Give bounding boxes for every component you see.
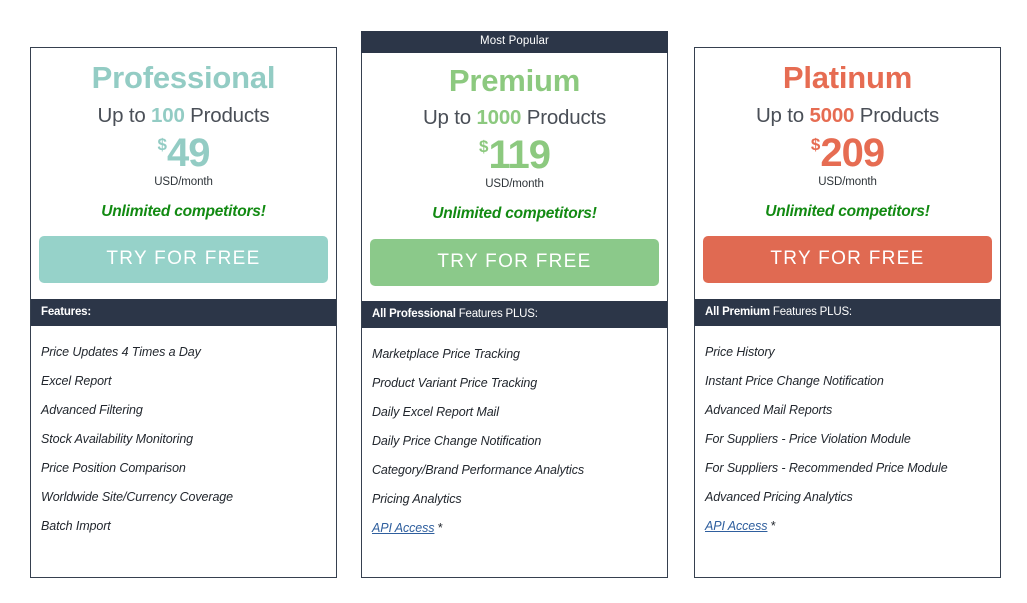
feature-item: Daily Excel Report Mail (372, 398, 657, 427)
plan-product-limit: Up to 1000 Products (376, 106, 653, 130)
feature-item[interactable]: API Access * (705, 512, 990, 541)
feature-item[interactable]: API Access * (372, 514, 657, 543)
feature-label: Product Variant Price Tracking (372, 376, 537, 390)
feature-item: Advanced Mail Reports (705, 396, 990, 425)
feature-label: Daily Excel Report Mail (372, 405, 499, 419)
features-header: Features: (31, 299, 336, 326)
feature-item: Batch Import (41, 512, 326, 541)
products-quantity: 1000 (476, 106, 521, 129)
feature-label: Excel Report (41, 374, 111, 388)
feature-item: Daily Price Change Notification (372, 427, 657, 456)
feature-item: For Suppliers - Price Violation Module (705, 425, 990, 454)
products-prefix: Up to (423, 106, 477, 129)
feature-item: Excel Report (41, 367, 326, 396)
plan-product-limit: Up to 100 Products (45, 104, 322, 128)
feature-label: Batch Import (41, 519, 111, 533)
plan-tagline: Unlimited competitors! (45, 203, 322, 221)
feature-label: Instant Price Change Notification (705, 374, 884, 388)
products-quantity: 5000 (809, 104, 854, 127)
products-suffix: Products (521, 106, 606, 129)
plan-billing-period: USD/month (45, 176, 322, 188)
plan-title: Professional (45, 62, 322, 95)
plan-title: Premium (376, 65, 653, 98)
feature-item: Pricing Analytics (372, 485, 657, 514)
plan-card-body: Platinum Up to 5000 Products $209 USD/mo… (695, 48, 1000, 577)
feature-label: For Suppliers - Price Violation Module (705, 432, 911, 446)
feature-label: Category/Brand Performance Analytics (372, 463, 584, 477)
features-list: Price Updates 4 Times a DayExcel ReportA… (31, 326, 336, 577)
features-header-strong: Features: (41, 306, 91, 318)
features-header-rest: Features PLUS: (770, 306, 852, 318)
feature-label: Advanced Pricing Analytics (705, 490, 853, 504)
footnote-asterisk: * (767, 519, 775, 533)
feature-label: For Suppliers - Recommended Price Module (705, 461, 948, 475)
plan-header: Platinum Up to 5000 Products $209 USD/mo… (695, 48, 1000, 221)
feature-label: Worldwide Site/Currency Coverage (41, 490, 233, 504)
feature-item: Category/Brand Performance Analytics (372, 456, 657, 485)
api-access-link[interactable]: API Access (372, 521, 434, 535)
try-for-free-button[interactable]: TRY FOR FREE (370, 239, 659, 286)
feature-label: Pricing Analytics (372, 492, 462, 506)
plan-price: $209 (709, 133, 986, 173)
feature-label: Price Updates 4 Times a Day (41, 345, 201, 359)
products-prefix: Up to (756, 104, 810, 127)
plan-card-body: Premium Up to 1000 Products $119 USD/mon… (361, 53, 668, 578)
features-header-strong: All Premium (705, 306, 770, 318)
feature-label: Price History (705, 345, 775, 359)
feature-label: Stock Availability Monitoring (41, 432, 193, 446)
feature-item: Stock Availability Monitoring (41, 425, 326, 454)
price-amount: 49 (167, 131, 210, 175)
plan-title: Platinum (709, 62, 986, 95)
feature-item: Price Position Comparison (41, 454, 326, 483)
products-prefix: Up to (98, 104, 152, 127)
products-suffix: Products (185, 104, 270, 127)
feature-item: Advanced Pricing Analytics (705, 483, 990, 512)
try-for-free-button[interactable]: TRY FOR FREE (39, 236, 328, 283)
plan-card-premium: Most Popular Premium Up to 1000 Products… (361, 31, 668, 578)
feature-item: Price History (705, 338, 990, 367)
feature-item: Instant Price Change Notification (705, 367, 990, 396)
most-popular-ribbon: Most Popular (361, 31, 668, 53)
footnote-asterisk: * (434, 521, 442, 535)
plan-price: $49 (45, 133, 322, 173)
pricing-table: Professional Up to 100 Products $49 USD/… (0, 0, 1027, 603)
feature-item: Marketplace Price Tracking (372, 340, 657, 369)
products-quantity: 100 (151, 104, 185, 127)
feature-item: Worldwide Site/Currency Coverage (41, 483, 326, 512)
try-for-free-button[interactable]: TRY FOR FREE (703, 236, 992, 283)
feature-label: Advanced Filtering (41, 403, 143, 417)
features-header-strong: All Professional (372, 308, 456, 320)
plan-header: Premium Up to 1000 Products $119 USD/mon… (362, 53, 667, 224)
plan-card-body: Professional Up to 100 Products $49 USD/… (31, 48, 336, 577)
features-header: All Professional Features PLUS: (362, 301, 667, 328)
feature-item: Product Variant Price Tracking (372, 369, 657, 398)
features-header: All Premium Features PLUS: (695, 299, 1000, 326)
price-amount: 209 (820, 131, 884, 175)
currency-symbol: $ (811, 135, 820, 154)
plan-product-limit: Up to 5000 Products (709, 104, 986, 128)
feature-item: For Suppliers - Recommended Price Module (705, 454, 990, 483)
feature-item: Price Updates 4 Times a Day (41, 338, 326, 367)
currency-symbol: $ (158, 135, 167, 154)
feature-item: Advanced Filtering (41, 396, 326, 425)
features-list: Marketplace Price TrackingProduct Varian… (362, 328, 667, 577)
feature-label: Advanced Mail Reports (705, 403, 832, 417)
plan-header: Professional Up to 100 Products $49 USD/… (31, 48, 336, 221)
price-amount: 119 (488, 133, 550, 177)
plan-tagline: Unlimited competitors! (709, 203, 986, 221)
plan-price: $119 (376, 135, 653, 175)
feature-label: Price Position Comparison (41, 461, 186, 475)
plan-billing-period: USD/month (376, 178, 653, 190)
feature-label: Daily Price Change Notification (372, 434, 541, 448)
features-header-rest: Features PLUS: (456, 308, 538, 320)
products-suffix: Products (854, 104, 939, 127)
plan-card-platinum: Platinum Up to 5000 Products $209 USD/mo… (694, 47, 1001, 578)
plan-billing-period: USD/month (709, 176, 986, 188)
features-list: Price HistoryInstant Price Change Notifi… (695, 326, 1000, 577)
plan-card-professional: Professional Up to 100 Products $49 USD/… (30, 47, 337, 578)
feature-label: Marketplace Price Tracking (372, 347, 520, 361)
plan-tagline: Unlimited competitors! (376, 205, 653, 223)
api-access-link[interactable]: API Access (705, 519, 767, 533)
